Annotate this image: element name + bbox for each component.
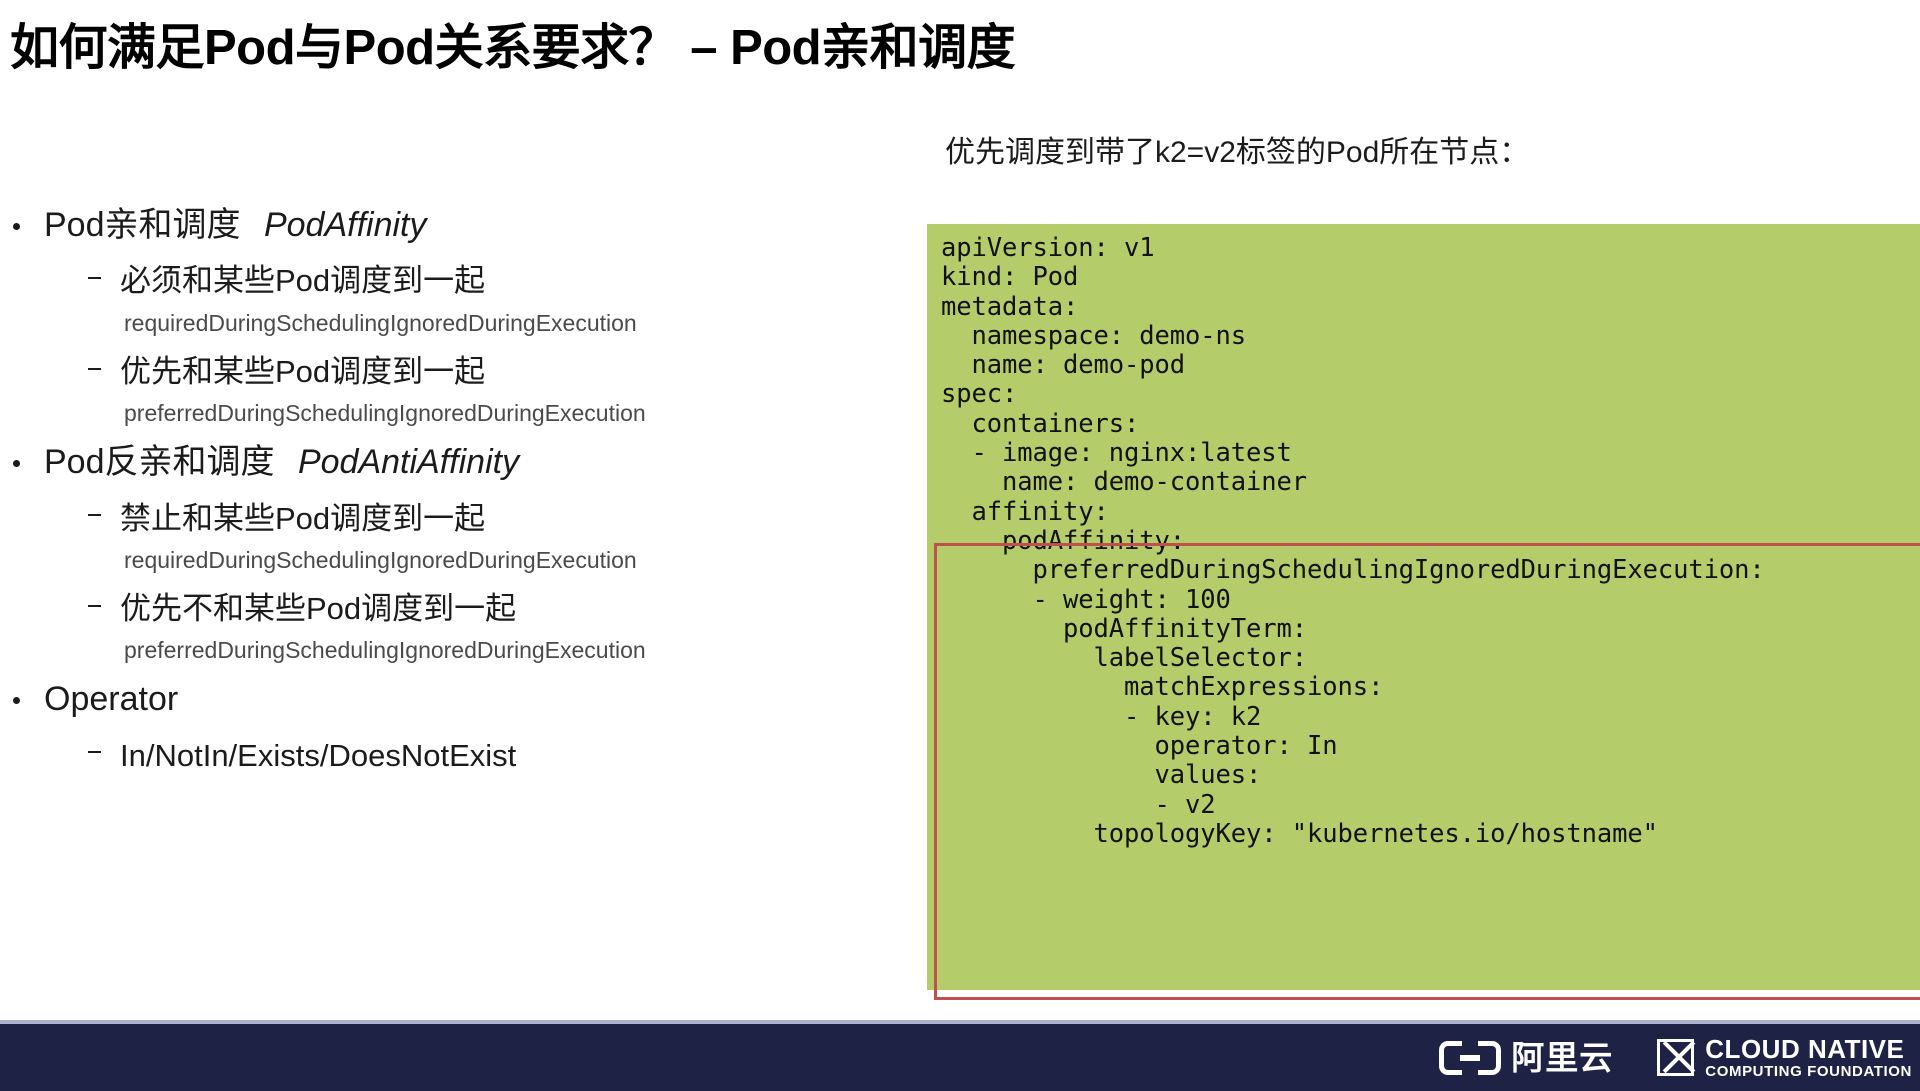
code-line: podAffinityTerm:: [941, 615, 1920, 644]
code-line: containers:: [941, 410, 1920, 439]
yaml-code-block: apiVersion: v1kind: Podmetadata: namespa…: [927, 224, 1920, 990]
code-line: matchExpressions:: [941, 673, 1920, 702]
code-line: values:: [941, 761, 1920, 790]
list-item-label: Pod反亲和调度: [44, 443, 284, 481]
code-line: - image: nginx:latest: [941, 439, 1920, 468]
bullet-dash-icon: [88, 751, 101, 753]
list-item-emphasis: PodAntiAffinity: [284, 443, 519, 481]
code-line: apiVersion: v1: [941, 234, 1920, 263]
list-item-label: 优先和某些Pod调度到一起: [120, 354, 485, 389]
code-line: operator: In: [941, 732, 1920, 761]
list-item: Pod反亲和调度 PodAntiAffinity: [0, 442, 840, 483]
footer-bar: 阿里云 CLOUD NATIVE COMPUTING FOUNDATION: [0, 1024, 1920, 1091]
code-line: podAffinity:: [941, 527, 1920, 556]
code-line: labelSelector:: [941, 644, 1920, 673]
bullet-list: Pod亲和调度 PodAffinity 必须和某些Pod调度到一起 requir…: [0, 205, 840, 774]
list-item-label: 必须和某些Pod调度到一起: [120, 263, 485, 298]
list-item: Operator: [0, 679, 840, 720]
cncf-wordmark: CLOUD NATIVE COMPUTING FOUNDATION: [1705, 1036, 1912, 1079]
code-line: name: demo-container: [941, 468, 1920, 497]
list-item: In/NotIn/Exists/DoesNotExist: [0, 737, 840, 774]
list-item: 优先不和某些Pod调度到一起: [0, 590, 840, 627]
code-line: affinity:: [941, 498, 1920, 527]
code-line: spec:: [941, 380, 1920, 409]
bullet-dot-icon: [13, 460, 20, 467]
cncf-square-icon: [1657, 1039, 1694, 1076]
code-line: - v2: [941, 791, 1920, 820]
code-line: name: demo-pod: [941, 351, 1920, 380]
bullet-dot-icon: [13, 223, 20, 230]
list-item: 优先和某些Pod调度到一起: [0, 353, 840, 390]
code-line: preferredDuringSchedulingIgnoredDuringEx…: [941, 556, 1920, 585]
code-line: kind: Pod: [941, 263, 1920, 292]
list-item-note: requiredDuringSchedulingIgnoredDuringExe…: [0, 547, 840, 575]
cncf-line-2: COMPUTING FOUNDATION: [1705, 1064, 1912, 1079]
code-line: topologyKey: "kubernetes.io/hostname": [941, 820, 1920, 849]
code-line: - weight: 100: [941, 586, 1920, 615]
list-item: 必须和某些Pod调度到一起: [0, 262, 840, 299]
list-item-note: preferredDuringSchedulingIgnoredDuringEx…: [0, 400, 840, 428]
code-caption: 优先调度到带了k2=v2标签的Pod所在节点：: [945, 127, 1529, 171]
list-item-note: preferredDuringSchedulingIgnoredDuringEx…: [0, 637, 840, 665]
code-line: - key: k2: [941, 703, 1920, 732]
alibaba-cloud-logo: 阿里云: [1439, 1041, 1613, 1075]
code-line: metadata:: [941, 293, 1920, 322]
cncf-logo: CLOUD NATIVE COMPUTING FOUNDATION: [1657, 1036, 1912, 1079]
list-item-label: Pod亲和调度: [44, 206, 250, 244]
list-item-note: requiredDuringSchedulingIgnoredDuringExe…: [0, 310, 840, 338]
list-item-label: In/NotIn/Exists/DoesNotExist: [120, 738, 516, 773]
code-panel: 优先调度到带了k2=v2标签的Pod所在节点： apiVersion: v1ki…: [925, 0, 1920, 1024]
list-item-label: Operator: [44, 680, 178, 718]
footer-logos: 阿里云 CLOUD NATIVE COMPUTING FOUNDATION: [1439, 1024, 1912, 1091]
page-title: 如何满足Pod与Pod关系要求？ – Pod亲和调度: [10, 8, 1015, 79]
list-item: 禁止和某些Pod调度到一起: [0, 500, 840, 537]
bullet-dash-icon: [88, 605, 101, 607]
list-item-label: 禁止和某些Pod调度到一起: [120, 501, 485, 536]
bullet-dot-icon: [13, 697, 20, 704]
code-line: namespace: demo-ns: [941, 322, 1920, 351]
alibaba-cloud-label: 阿里云: [1511, 1041, 1613, 1074]
cncf-line-1: CLOUD NATIVE: [1705, 1036, 1912, 1062]
list-item: Pod亲和调度 PodAffinity: [0, 205, 840, 246]
bullet-dash-icon: [88, 277, 101, 279]
bullet-dash-icon: [88, 514, 101, 516]
list-item-label: 优先不和某些Pod调度到一起: [120, 591, 516, 626]
bullet-dash-icon: [88, 368, 101, 370]
alibaba-bracket-icon: [1439, 1041, 1501, 1075]
list-item-emphasis: PodAffinity: [250, 206, 427, 244]
